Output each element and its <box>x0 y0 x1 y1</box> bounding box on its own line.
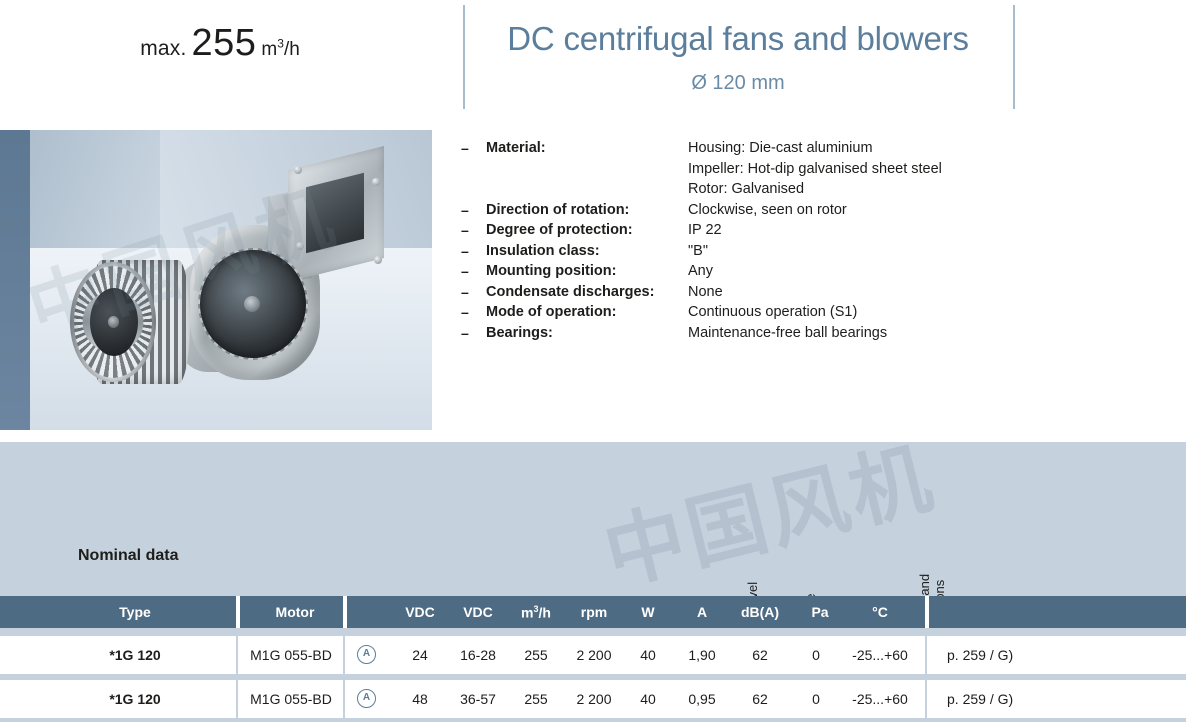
spec-value: Rotor: Galvanised <box>688 181 804 197</box>
unitbar-gap <box>343 596 347 628</box>
row-divider <box>925 680 927 718</box>
specifications-list: – Material: Housing: Die-cast aluminium … <box>461 140 1081 345</box>
cell-air-flow: 255 <box>508 647 564 663</box>
unit-nominal-voltage: VDC <box>394 604 446 620</box>
spec-row: – Mode of operation: Continuous operatio… <box>461 304 1081 325</box>
spec-row: – Insulation class: "B" <box>461 243 1081 264</box>
spec-row: Impeller: Hot-dip galvanised sheet steel <box>461 161 1081 182</box>
spec-label: Material: <box>486 140 546 156</box>
bullet-dash-icon: – <box>461 304 469 320</box>
cell-voltage-range: 36-57 <box>452 691 504 707</box>
spec-row: Rotor: Galvanised <box>461 181 1081 202</box>
spec-label: Bearings: <box>486 325 553 341</box>
table-section-label: Nominal data <box>78 547 178 565</box>
cell-motor: M1G 055-BD <box>246 647 336 663</box>
flange-screw-icon <box>294 166 302 174</box>
spec-label: Condensate discharges: <box>486 284 654 300</box>
impeller-hub <box>108 316 119 328</box>
spec-value: Maintenance-free ball bearings <box>688 325 887 341</box>
spec-label: Degree of protection: <box>486 222 633 238</box>
cell-nominal-voltage: 48 <box>394 691 446 707</box>
unit-speed: rpm <box>568 604 620 620</box>
bullet-dash-icon: – <box>461 325 469 341</box>
flange-screw-icon <box>374 256 382 264</box>
curve-icon[interactable]: A <box>357 645 376 664</box>
spec-row: – Degree of protection: IP 22 <box>461 222 1081 243</box>
spec-label: Direction of rotation: <box>486 202 629 218</box>
spec-value: Housing: Die-cast aluminium <box>688 140 873 156</box>
header-divider-right <box>1013 5 1015 109</box>
max-label: max. <box>140 37 186 60</box>
loose-impeller <box>70 258 192 386</box>
cell-technical[interactable]: p. 259 / G) <box>947 691 1077 707</box>
spec-value: Impeller: Hot-dip galvanised sheet steel <box>688 161 942 177</box>
cell-type: *1G 120 <box>60 647 210 663</box>
row-divider <box>343 680 345 718</box>
cell-current-draw: 0,95 <box>676 691 728 707</box>
cell-sound-pressure: 62 <box>730 691 790 707</box>
flange-screw-icon <box>372 178 380 186</box>
spec-value: None <box>688 284 723 300</box>
cell-current-draw: 1,90 <box>676 647 728 663</box>
cell-motor: M1G 055-BD <box>246 691 336 707</box>
page-header: max.255m3/h DC centrifugal fans and blow… <box>0 0 1186 120</box>
page-title: DC centrifugal fans and blowers <box>463 20 1013 58</box>
unit-current-draw: A <box>678 604 726 620</box>
bullet-dash-icon: – <box>461 263 469 279</box>
spec-row: – Direction of rotation: Clockwise, seen… <box>461 202 1081 223</box>
cell-sound-pressure: 62 <box>730 647 790 663</box>
row-divider <box>236 636 238 674</box>
col-label-type: Type <box>60 604 210 620</box>
spec-row: – Material: Housing: Die-cast aluminium <box>461 140 1081 161</box>
spec-value: IP 22 <box>688 222 722 238</box>
unitbar-gap <box>925 596 929 628</box>
product-photo: 中国风机 <box>0 130 432 430</box>
cell-speed: 2 200 <box>566 691 622 707</box>
spec-value: "B" <box>688 243 708 259</box>
cell-min-backpressure: 0 <box>792 647 840 663</box>
bullet-dash-icon: – <box>461 140 469 156</box>
cell-nominal-voltage: 24 <box>394 647 446 663</box>
blower-hub <box>244 296 260 312</box>
nominal-data-table: 中国风机 Curve Nominal voltage Voltage range… <box>0 442 1186 712</box>
cell-amb-temp: -25...+60 <box>844 647 916 663</box>
curve-icon[interactable]: A <box>357 689 376 708</box>
col-label-motor: Motor <box>250 604 340 620</box>
unit-voltage-range: VDC <box>452 604 504 620</box>
unit-amb-temp: °C <box>852 604 908 620</box>
row-divider <box>236 680 238 718</box>
unit-sound-pressure: dB(A) <box>730 604 790 620</box>
max-airflow-callout: max.255m3/h <box>0 22 440 65</box>
unitbar-gap <box>236 596 240 628</box>
table-header-block <box>0 442 1186 596</box>
spec-label: Mode of operation: <box>486 304 617 320</box>
table-unit-bar: Type Motor VDC VDC m3/h rpm W A dB(A) Pa… <box>0 596 1186 628</box>
table-separator <box>0 718 1186 722</box>
cell-input-power: 40 <box>624 647 672 663</box>
spec-row: – Condensate discharges: None <box>461 284 1081 305</box>
max-unit: m3/h <box>261 39 299 60</box>
table-row[interactable]: *1G 120 M1G 055-BD A 24 16-28 255 2 200 … <box>0 636 1186 674</box>
unit-air-flow: m3/h <box>508 604 564 621</box>
cell-type: *1G 120 <box>60 691 210 707</box>
spec-label: Mounting position: <box>486 263 616 279</box>
spec-row: – Bearings: Maintenance-free ball bearin… <box>461 325 1081 346</box>
table-separator <box>0 628 1186 636</box>
row-divider <box>925 636 927 674</box>
bullet-dash-icon: – <box>461 202 469 218</box>
cell-amb-temp: -25...+60 <box>844 691 916 707</box>
row-divider <box>343 636 345 674</box>
cell-voltage-range: 16-28 <box>452 647 504 663</box>
bullet-dash-icon: – <box>461 222 469 238</box>
flange-screw-icon <box>296 242 304 250</box>
photo-side-bar <box>0 130 30 430</box>
unit-input-power: W <box>624 604 672 620</box>
page-subtitle: Ø 120 mm <box>463 72 1013 95</box>
max-value: 255 <box>187 22 262 64</box>
unit-min-backpressure: Pa <box>796 604 844 620</box>
cell-speed: 2 200 <box>566 647 622 663</box>
spec-value: Any <box>688 263 713 279</box>
cell-technical[interactable]: p. 259 / G) <box>947 647 1077 663</box>
bullet-dash-icon: – <box>461 243 469 259</box>
bullet-dash-icon: – <box>461 284 469 300</box>
cell-min-backpressure: 0 <box>792 691 840 707</box>
spec-row: – Mounting position: Any <box>461 263 1081 284</box>
table-row[interactable]: *1G 120 M1G 055-BD A 48 36-57 255 2 200 … <box>0 680 1186 718</box>
spec-value: Clockwise, seen on rotor <box>688 202 847 218</box>
cell-input-power: 40 <box>624 691 672 707</box>
cell-air-flow: 255 <box>508 691 564 707</box>
spec-label: Insulation class: <box>486 243 600 259</box>
spec-value: Continuous operation (S1) <box>688 304 857 320</box>
